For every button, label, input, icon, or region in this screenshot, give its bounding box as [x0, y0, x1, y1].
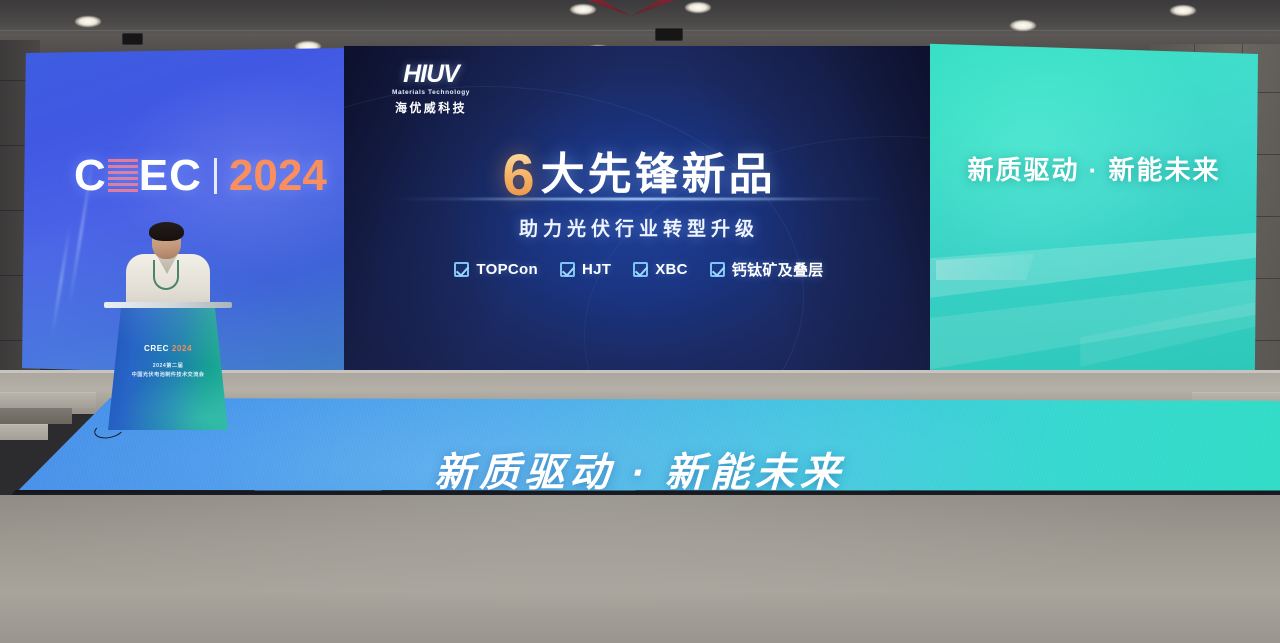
- ceiling-light-icon: [570, 4, 596, 15]
- checkbox-icon[interactable]: [710, 262, 725, 277]
- checkbox-icon[interactable]: [560, 262, 575, 277]
- hiuv-chinese-name: 海优威科技: [392, 99, 470, 116]
- ceiling-chevron-marker: [588, 0, 674, 16]
- stage-scene: CEC 2024 HIUV Materials Technology 海优威科技…: [0, 0, 1280, 643]
- ceiling-light-icon: [1170, 5, 1196, 16]
- subheadline: 助力光伏行业转型升级: [344, 214, 934, 241]
- checkbox-icon[interactable]: [633, 262, 648, 277]
- list-item[interactable]: 钙钛矿及叠层: [710, 259, 824, 280]
- podium-logo: CREC 2024: [108, 344, 228, 353]
- hall-floor: [0, 495, 1280, 643]
- ceiling-light-icon: [1010, 20, 1036, 31]
- podium-logo-text: CREC: [144, 344, 169, 353]
- presenter-hair: [149, 222, 184, 241]
- checkbox-label: XBC: [655, 261, 688, 278]
- crec-logo-r-glyph: [108, 159, 138, 193]
- hiuv-tagline: Materials Technology: [392, 89, 470, 96]
- right-panel-slogan: 新质驱动 · 新能未来: [930, 150, 1258, 187]
- stage-step: [0, 424, 48, 440]
- speaker-podium[interactable]: CREC 2024 2024第二届 中国光伏电池制件技术交流会: [108, 306, 228, 430]
- crec-logo-prefix: C: [74, 151, 107, 201]
- stage-step: [0, 392, 96, 408]
- ceiling-seam: [0, 30, 1280, 31]
- decorative-band: [936, 254, 1034, 280]
- podium-event-line-2: 中国光伏电池制件技术交流会: [108, 371, 228, 378]
- right-led-panel[interactable]: 新质驱动 · 新能未来: [930, 42, 1258, 385]
- podium-event-line-1: 2024第二届: [108, 362, 228, 369]
- crec-logo-suffix: EC: [139, 151, 202, 201]
- ceiling-light-icon: [75, 16, 101, 27]
- center-led-panel[interactable]: HIUV Materials Technology 海优威科技 6大先锋新品 助…: [344, 46, 934, 380]
- podium-logo-year: 2024: [172, 344, 192, 353]
- podium-top-surface: [104, 302, 232, 308]
- headline-text: 大先锋新品: [541, 150, 776, 199]
- crec-logo: CEC 2024: [74, 151, 327, 201]
- decorative-swoosh: [1080, 297, 1258, 367]
- checkbox-icon[interactable]: [454, 262, 469, 277]
- ceiling-vent: [122, 33, 143, 45]
- hiuv-brand-logo: HIUV Materials Technology 海优威科技: [392, 62, 470, 116]
- hiuv-wordmark: HIUV: [392, 62, 470, 87]
- headline-divider: [454, 198, 824, 200]
- ceiling-light-icon: [685, 2, 711, 13]
- list-item[interactable]: TOPCon: [454, 261, 538, 278]
- decorative-swoosh: [930, 227, 1258, 347]
- decorative-swoosh: [930, 267, 1258, 385]
- product-checklist: TOPCon HJT XBC 钙钛矿及叠层: [344, 259, 934, 280]
- headline: 6大先锋新品: [344, 138, 934, 205]
- list-item[interactable]: XBC: [633, 261, 688, 278]
- crec-logo-year: 2024: [229, 151, 327, 201]
- list-item[interactable]: HJT: [560, 261, 611, 278]
- checkbox-label: TOPCon: [476, 261, 538, 278]
- crec-logo-text: CEC: [74, 151, 202, 201]
- checkbox-label: HJT: [582, 261, 611, 278]
- floor-slogan: 新质驱动 · 新能未来: [0, 440, 1280, 498]
- presenter-lanyard: [153, 260, 179, 290]
- crec-logo-separator: [214, 158, 217, 194]
- checkbox-label: 钙钛矿及叠层: [732, 259, 824, 280]
- ceiling-vent: [655, 28, 683, 41]
- stage-step: [0, 408, 72, 424]
